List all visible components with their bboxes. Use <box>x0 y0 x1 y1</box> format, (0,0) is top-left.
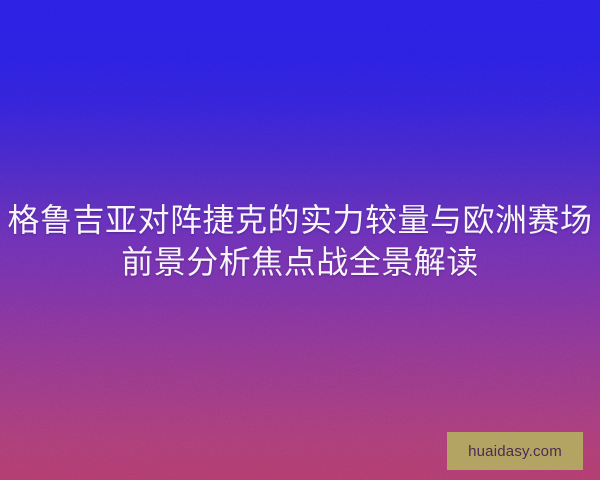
banner-image: 格鲁吉亚对阵捷克的实力较量与欧洲赛场 前景分析焦点战全景解读 huaidasy.… <box>0 0 600 480</box>
headline-line-2: 前景分析焦点战全景解读 <box>0 241 600 283</box>
headline-line-1: 格鲁吉亚对阵捷克的实力较量与欧洲赛场 <box>0 199 600 241</box>
headline: 格鲁吉亚对阵捷克的实力较量与欧洲赛场 前景分析焦点战全景解读 <box>0 199 600 283</box>
watermark-label: huaidasy.com <box>468 443 562 460</box>
watermark-badge: huaidasy.com <box>447 432 583 470</box>
